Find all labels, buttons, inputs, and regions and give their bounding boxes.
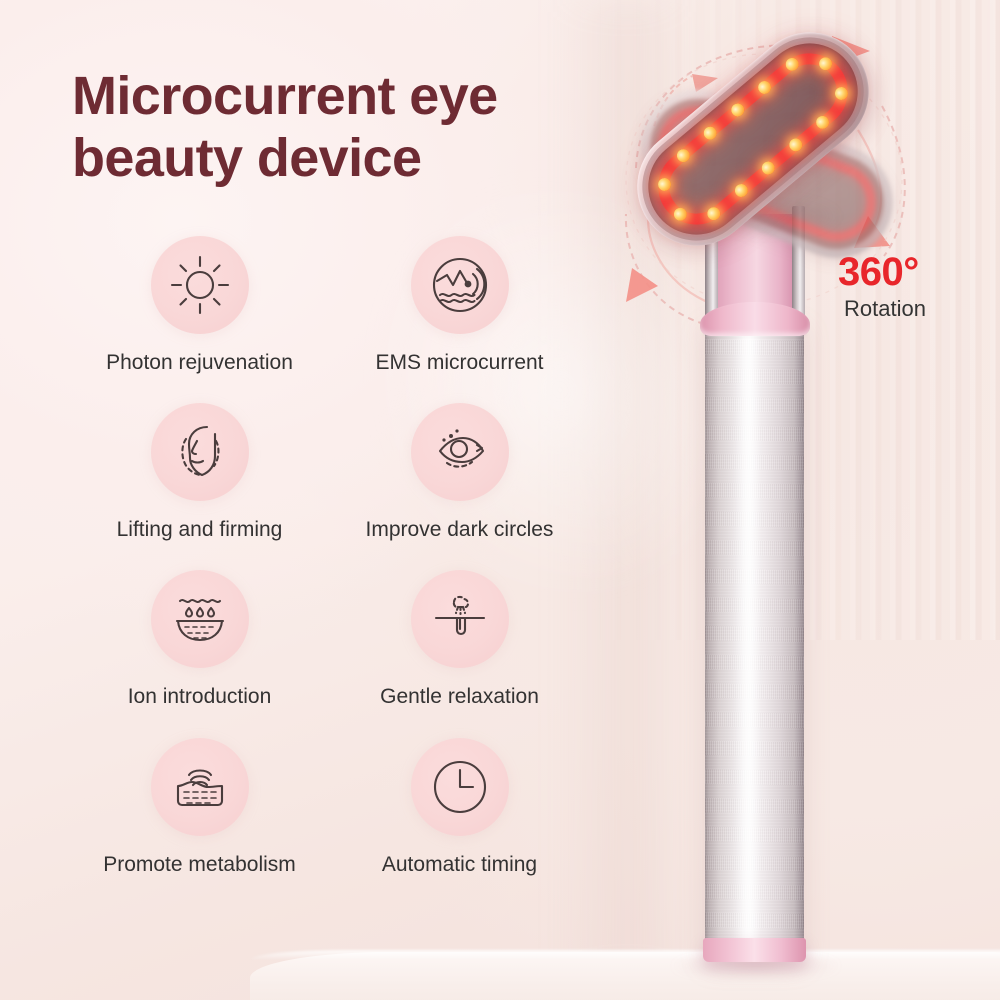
rotation-caption: Rotation	[844, 298, 926, 320]
feature-icon-bubble	[151, 738, 249, 836]
sun-icon	[169, 254, 231, 316]
feature-icon-bubble	[411, 236, 509, 334]
feature-item[interactable]: Improve dark circles	[332, 403, 587, 542]
led-dot	[832, 85, 850, 103]
feature-item[interactable]: Automatic timing	[332, 738, 587, 877]
pore-steam-icon	[429, 588, 491, 650]
feature-label: EMS microcurrent	[375, 350, 543, 375]
rotation-degrees: 360°	[838, 252, 926, 292]
device-handle	[705, 318, 804, 955]
led-dot	[701, 124, 719, 142]
feature-grid: Photon rejuvenation EMS microcurrent Lif…	[72, 236, 592, 877]
feature-label: Improve dark circles	[366, 517, 554, 542]
feature-icon-bubble	[411, 738, 509, 836]
led-dot	[756, 78, 774, 96]
led-dot	[813, 113, 831, 131]
led-dot	[671, 205, 689, 223]
eye-icon	[429, 421, 491, 483]
clock-icon	[429, 756, 491, 818]
product-marketing-image: Microcurrent eye beauty device	[0, 0, 1000, 1000]
feature-label: Promote metabolism	[103, 852, 296, 877]
led-dot	[655, 175, 673, 193]
led-dot	[674, 147, 692, 165]
wave-signal-icon	[429, 254, 491, 316]
feature-icon-bubble	[151, 570, 249, 668]
led-dot	[786, 136, 804, 154]
led-dot	[759, 159, 777, 177]
handle-highlight	[735, 318, 761, 955]
feature-icon-bubble	[151, 236, 249, 334]
feature-item[interactable]: Promote metabolism	[72, 738, 327, 877]
water-drops-icon	[169, 588, 231, 650]
feature-icon-bubble	[411, 403, 509, 501]
feature-item[interactable]: Gentle relaxation	[332, 570, 587, 709]
feature-item[interactable]: Ion introduction	[72, 570, 327, 709]
feature-label: Photon rejuvenation	[106, 350, 293, 375]
feature-item[interactable]: Photon rejuvenation	[72, 236, 327, 375]
face-profile-icon	[169, 421, 231, 483]
led-dot	[817, 55, 835, 73]
feature-icon-bubble	[411, 570, 509, 668]
feature-label: Gentle relaxation	[380, 684, 539, 709]
feature-item[interactable]: Lifting and firming	[72, 403, 327, 542]
handle-base-cap	[703, 938, 806, 962]
led-dot	[783, 55, 801, 73]
led-dot	[732, 182, 750, 200]
led-dot	[729, 101, 747, 119]
feature-label: Lifting and firming	[117, 517, 283, 542]
feature-item[interactable]: EMS microcurrent	[332, 236, 587, 375]
feature-icon-bubble	[151, 403, 249, 501]
skin-waves-icon	[169, 756, 231, 818]
feature-label: Automatic timing	[382, 852, 537, 877]
feature-label: Ion introduction	[128, 684, 272, 709]
led-dot	[705, 204, 723, 222]
rotation-badge: 360° Rotation	[838, 252, 926, 320]
